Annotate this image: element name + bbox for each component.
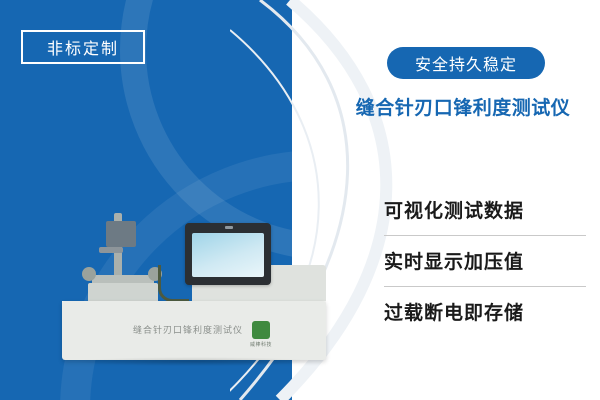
touchscreen-display	[192, 233, 264, 277]
screen-indicator-led	[225, 226, 233, 229]
machine-drop-shadow	[72, 357, 320, 366]
feature-label: 可视化测试数据	[384, 195, 600, 229]
fixture-base	[88, 283, 158, 303]
adjust-knob-left	[82, 267, 96, 281]
promo-banner: 非标定制 安全持久稳定 缝合针刃口锋利度测试仪 可视化测试数据 实时显示加压值 …	[0, 0, 600, 400]
touchscreen-bezel	[185, 223, 271, 285]
brand-logo: 威棒科技	[240, 321, 282, 348]
headline-badge: 安全持久稳定	[387, 47, 545, 79]
custom-tag-label: 非标定制	[47, 35, 119, 59]
feature-item: 实时显示加压值	[384, 246, 600, 297]
feature-label: 实时显示加压值	[384, 246, 600, 280]
fixture-arm	[99, 247, 123, 253]
brand-logo-text: 威棒科技	[240, 341, 282, 348]
feature-item: 过载断电即存储	[384, 297, 600, 348]
feature-divider	[384, 235, 586, 236]
feature-item: 可视化测试数据	[384, 195, 600, 246]
custom-tag-badge: 非标定制	[21, 30, 145, 64]
feature-label: 过载断电即存储	[384, 297, 600, 331]
brand-logo-mark	[252, 321, 270, 339]
fixture-head	[106, 221, 136, 247]
feature-divider	[384, 286, 586, 287]
product-machine-image: 缝合针刃口锋利度测试仪 威棒科技	[62, 205, 326, 360]
feature-list: 可视化测试数据 实时显示加压值 过载断电即存储	[384, 195, 600, 348]
headline-badge-label: 安全持久稳定	[415, 51, 517, 75]
product-headline: 缝合针刃口锋利度测试仪	[327, 93, 599, 120]
